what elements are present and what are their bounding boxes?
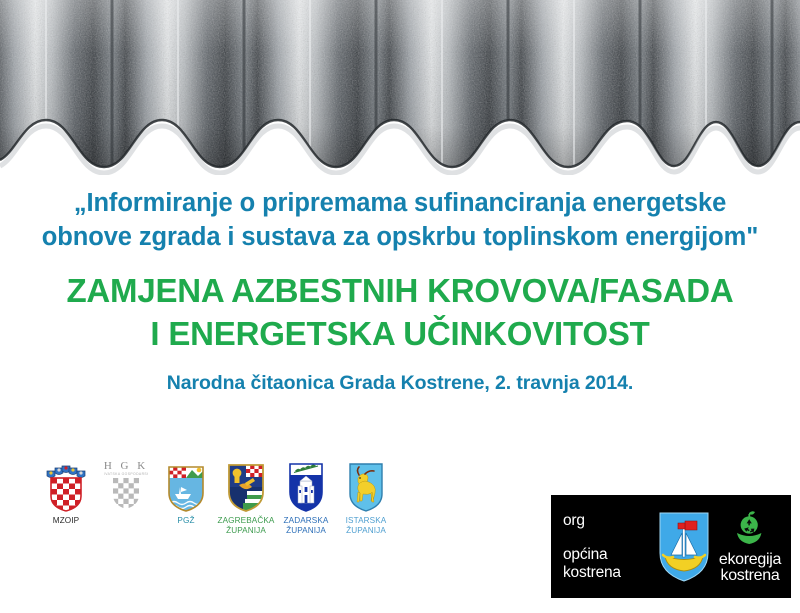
- ekoregija-line-1: ekoregija: [719, 552, 781, 568]
- badge-municipality-line-1: općina: [563, 546, 655, 564]
- logo-caption-istarska: ISTARSKA ŽUPANIJA: [346, 516, 387, 536]
- headline-text-block: „Informiranje o pripremama sufinanciranj…: [0, 186, 800, 395]
- logo-item-zagrebacka: ZAGREBAČKA ŽUPANIJA: [218, 455, 274, 536]
- title-line-1: ZAMJENA AZBESTNIH KROVOVA/FASADA: [0, 270, 800, 312]
- ekoregija-recycling-ship-icon: [733, 509, 767, 554]
- logo-caption-zadarska: ZADARSKA ŽUPANIJA: [284, 516, 329, 536]
- logo-item-pgz: PGŽ: [158, 455, 214, 526]
- badge-org-label: org: [563, 512, 655, 530]
- logo-caption-mzoip: MZOIP: [53, 516, 79, 526]
- logo-item-zadarska: ZADARSKA ŽUPANIJA: [278, 455, 334, 536]
- kostrena-organiser-badge: org općina kostrena: [551, 495, 791, 598]
- roof-sheet-body: [0, 0, 800, 175]
- hgk-grey-checker-shield: [113, 478, 139, 509]
- svg-text:H G K: H G K: [104, 460, 148, 472]
- corrugated-roof-banner: [0, 0, 800, 175]
- partner-logo-strip: MZOIP H G K HRVATSKA GOSPODARSKA: [38, 455, 394, 536]
- subtitle: „Informiranje o pripremama sufinanciranj…: [0, 186, 800, 254]
- crown-shields: [47, 466, 85, 478]
- istarska-zupanija-crest-icon: [345, 455, 387, 513]
- logo-item-hgk: H G K HRVATSKA GOSPODARSKA: [98, 455, 154, 516]
- ekoregija-wordmark: ekoregija kostrena: [719, 552, 781, 584]
- checkerboard-shield: [51, 478, 81, 511]
- page-title: ZAMJENA AZBESTNIH KROVOVA/FASADA I ENERG…: [0, 270, 800, 354]
- subtitle-line-1: „Informiranje o pripremama sufinanciranj…: [8, 186, 792, 220]
- badge-municipality-line-2: kostrena: [563, 564, 655, 582]
- kostrena-coat-of-arms-icon: [655, 511, 713, 583]
- hgk-logo-icon: H G K HRVATSKA GOSPODARSKA: [104, 455, 148, 513]
- logo-caption-pgz: PGŽ: [177, 516, 194, 526]
- ekoregija-line-2: kostrena: [719, 568, 781, 584]
- logo-caption-zagrebacka: ZAGREBAČKA ŽUPANIJA: [218, 516, 275, 536]
- logo-item-mzoip: MZOIP: [38, 455, 94, 526]
- title-line-2: I ENERGETSKA UČINKOVITOST: [0, 313, 800, 355]
- subtitle-line-2: obnove zgrada i sustava za opskrbu topli…: [8, 220, 792, 254]
- zagrebacka-zupanija-crest-icon: [225, 455, 267, 513]
- corrugated-roof-illustration: [0, 0, 800, 175]
- ekoregija-kostrena-logo: ekoregija kostrena: [713, 509, 791, 584]
- logo-item-istarska: ISTARSKA ŽUPANIJA: [338, 455, 394, 536]
- croatian-coat-of-arms-icon: [44, 455, 88, 513]
- title-slide: „Informiranje o pripremama sufinanciranj…: [0, 0, 800, 613]
- svg-text:HRVATSKA GOSPODARSKA: HRVATSKA GOSPODARSKA: [104, 472, 148, 476]
- badge-text-block: org općina kostrena: [551, 512, 655, 582]
- zadarska-zupanija-crest-icon: [285, 455, 327, 513]
- venue-and-date: Narodna čitaonica Grada Kostrene, 2. tra…: [0, 372, 800, 395]
- primorje-gorski-kotar-crest-icon: [165, 455, 207, 513]
